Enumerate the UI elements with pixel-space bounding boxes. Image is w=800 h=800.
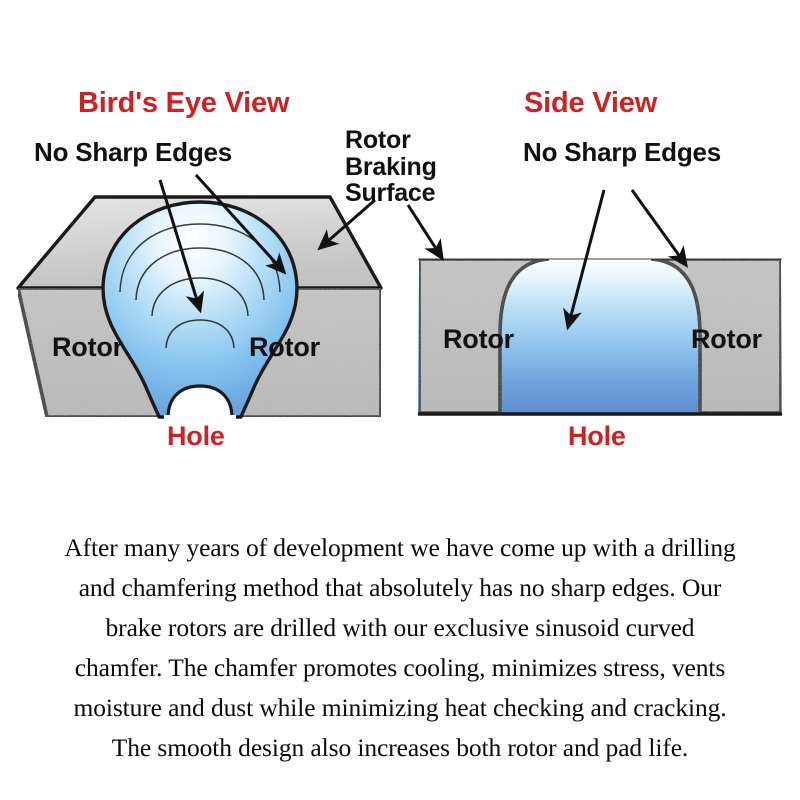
description-line-1: After many years of development we have … [8, 528, 792, 568]
label-rotor-side-right-block: Rotor [691, 325, 762, 354]
title-birds-eye-view: Bird's Eye View [78, 88, 289, 119]
label-rotor-side-left-block: Rotor [443, 325, 514, 354]
label-no-sharp-edges-right: No Sharp Edges [523, 139, 721, 167]
label-rotor-braking-surface-line-1: Rotor [345, 127, 437, 154]
title-side-view: Side View [524, 88, 657, 119]
description-line-6: The smooth design also increases both ro… [8, 728, 792, 768]
label-hole-left: Hole [167, 422, 225, 451]
description-paragraph: After many years of development we have … [8, 528, 792, 768]
description-line-2: and chamfering method that absolutely ha… [8, 568, 792, 608]
label-rotor-left-block: Rotor [52, 333, 123, 362]
arrow-no-sharp-edges-right-b [632, 190, 686, 265]
label-no-sharp-edges-left: No Sharp Edges [34, 139, 232, 167]
side-view-diagram [408, 190, 782, 414]
description-line-3: brake rotors are drilled with our exclus… [8, 608, 792, 648]
label-rotor-braking-surface-line-3: Surface [345, 180, 437, 207]
diagram-area: Bird's Eye View Side View No Sharp Edges… [0, 0, 800, 490]
description-line-5: moisture and dust while minimizing heat … [8, 688, 792, 728]
rotor-chamfer-illustration [0, 0, 800, 490]
label-rotor-right-block: Rotor [249, 333, 320, 362]
label-rotor-braking-surface: Rotor Braking Surface [345, 127, 437, 207]
birds-eye-diagram [18, 175, 381, 423]
label-rotor-braking-surface-line-2: Braking [345, 154, 437, 181]
description-line-4: chamfer. The chamfer promotes cooling, m… [8, 648, 792, 688]
figure-root: Bird's Eye View Side View No Sharp Edges… [0, 0, 800, 800]
label-hole-right: Hole [568, 422, 626, 451]
arrow-rotor-braking-surface-side [408, 205, 442, 258]
